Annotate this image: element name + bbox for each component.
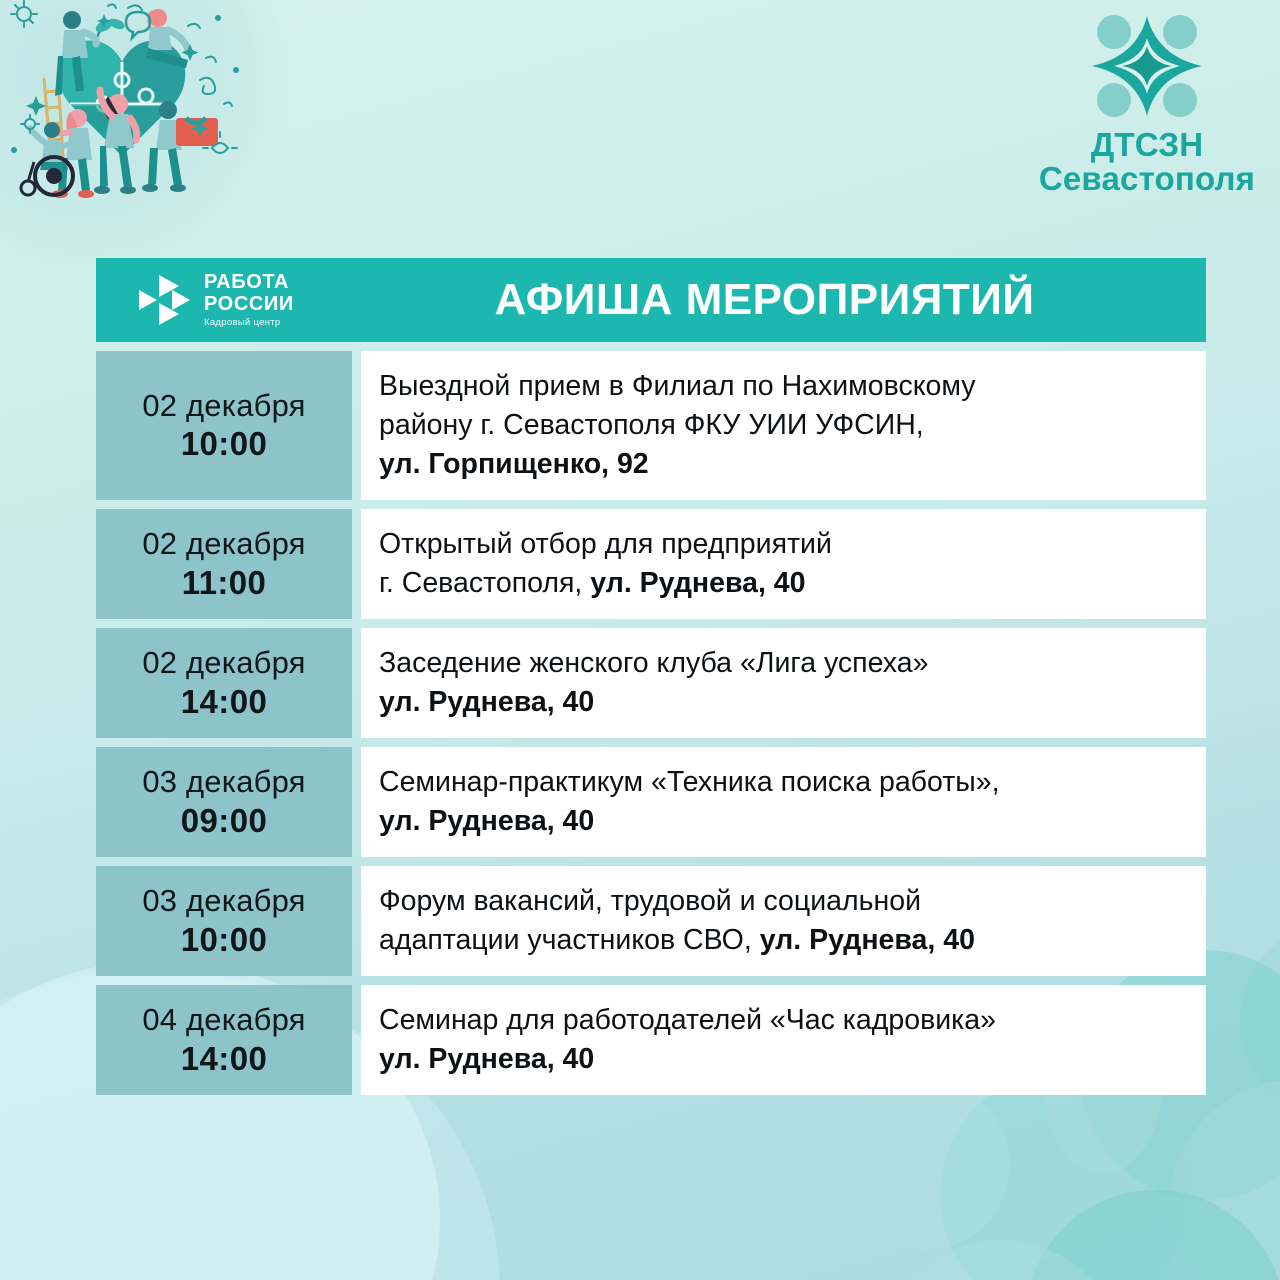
event-description-line: ул. Горпищенко, 92 [379,445,1184,484]
event-date-cell: 02 декабря14:00 [96,628,352,738]
table-row: 02 декабря14:00Заседение женского клуба … [96,628,1206,738]
event-text: г. Севастополя, [379,567,590,599]
event-description-cell: Семинар для работодателей «Час кадровика… [361,985,1206,1095]
dtszn-line1: ДТСЗН [1039,128,1255,162]
event-time: 10:00 [181,424,267,464]
event-description-line: адаптации участников СВО, ул. Руднева, 4… [379,921,1184,960]
table-row: 03 декабря10:00Форум вакансий, трудовой … [96,866,1206,976]
people-puzzle-heart-illustration [0,0,245,200]
event-description-line: Заседение женского клуба «Лига успеха» [379,644,1184,683]
rabota-rossii-text: РАБОТА РОССИИ Кадровый центр [204,272,294,328]
poster-header: РАБОТА РОССИИ Кадровый центр АФИША МЕРОП… [96,258,1206,342]
event-day: 02 декабря [142,644,305,682]
dtszn-line2: Севастополя [1039,162,1255,196]
event-address: ул. Горпищенко, 92 [379,448,649,480]
event-date-cell: 03 декабря10:00 [96,866,352,976]
dtszn-wordmark: ДТСЗН Севастополя [1039,128,1255,195]
rabota-rossii-triangles-icon [138,274,193,326]
event-description-line: Выездной прием в Филиал по Нахимовскому [379,367,1184,406]
event-text: адаптации участников СВО, [379,924,760,956]
event-description-line: г. Севастополя, ул. Руднева, 40 [379,564,1184,603]
brand-line1: РАБОТА [204,272,294,292]
event-description-line: ул. Руднева, 40 [379,802,1184,841]
event-time: 09:00 [181,801,267,841]
event-description-cell: Заседение женского клуба «Лига успеха»ул… [361,628,1206,738]
event-text: Заседение женского клуба «Лига успеха» [379,647,928,679]
event-time: 14:00 [181,682,267,722]
event-description-line: Форум вакансий, трудовой и социальной [379,882,1184,921]
table-row: 02 декабря10:00Выездной прием в Филиал п… [96,351,1206,500]
event-description-cell: Открытый отбор для предприятийг. Севасто… [361,509,1206,619]
event-date-cell: 03 декабря09:00 [96,747,352,857]
table-row: 02 декабря11:00Открытый отбор для предпр… [96,509,1206,619]
event-description-line: Семинар-практикум «Техника поиска работы… [379,763,1184,802]
table-row: 04 декабря14:00Семинар для работодателей… [96,985,1206,1095]
event-text: Форум вакансий, трудовой и социальной [379,885,921,917]
event-date-cell: 02 декабря10:00 [96,351,352,500]
events-list: 02 декабря10:00Выездной прием в Филиал п… [96,351,1206,1095]
event-text: Открытый отбор для предприятий [379,528,832,560]
event-description-line: ул. Руднева, 40 [379,683,1184,722]
rabota-rossii-logo: РАБОТА РОССИИ Кадровый центр [96,272,351,328]
event-description-line: Открытый отбор для предприятий [379,525,1184,564]
event-day: 02 декабря [142,387,305,425]
page-title: АФИША МЕРОПРИЯТИЙ [351,275,1206,325]
event-text: Семинар для работодателей «Час кадровика… [379,1004,996,1036]
event-address: ул. Руднева, 40 [590,567,805,599]
dtszn-logo: ДТСЗН Севастополя [1022,8,1272,203]
event-description-line: району г. Севастополя ФКУ УИИ УФСИН, [379,406,1184,445]
event-date-cell: 02 декабря11:00 [96,509,352,619]
event-time: 10:00 [181,920,267,960]
event-day: 02 декабря [142,525,305,563]
petal-7 [840,1080,1010,1250]
event-description-cell: Семинар-практикум «Техника поиска работы… [361,747,1206,857]
event-description-line: ул. Руднева, 40 [379,1040,1184,1079]
event-address: ул. Руднева, 40 [379,805,594,837]
event-time: 14:00 [181,1039,267,1079]
four-point-star-icon [1084,8,1210,126]
event-day: 03 декабря [142,763,305,801]
event-description-line: Семинар для работодателей «Час кадровика… [379,1001,1184,1040]
event-address: ул. Руднева, 40 [379,686,594,718]
event-time: 11:00 [182,563,267,603]
brand-tagline: Кадровый центр [204,318,294,328]
event-description-cell: Форум вакансий, трудовой и социальнойада… [361,866,1206,976]
event-description-cell: Выездной прием в Филиал по Нахимовскомур… [361,351,1206,500]
event-day: 03 декабря [142,882,305,920]
table-row: 03 декабря09:00Семинар-практикум «Техник… [96,747,1206,857]
event-date-cell: 04 декабря14:00 [96,985,352,1095]
event-day: 04 декабря [142,1001,305,1039]
event-text: Семинар-практикум «Техника поиска работы… [379,766,1000,798]
event-address: ул. Руднева, 40 [379,1043,594,1075]
event-address: ул. Руднева, 40 [760,924,975,956]
event-text: Выездной прием в Филиал по Нахимовскому [379,370,976,402]
events-poster: РАБОТА РОССИИ Кадровый центр АФИША МЕРОП… [96,258,1206,1095]
event-text: району г. Севастополя ФКУ УИИ УФСИН, [379,409,924,441]
brand-line2: РОССИИ [204,294,294,314]
